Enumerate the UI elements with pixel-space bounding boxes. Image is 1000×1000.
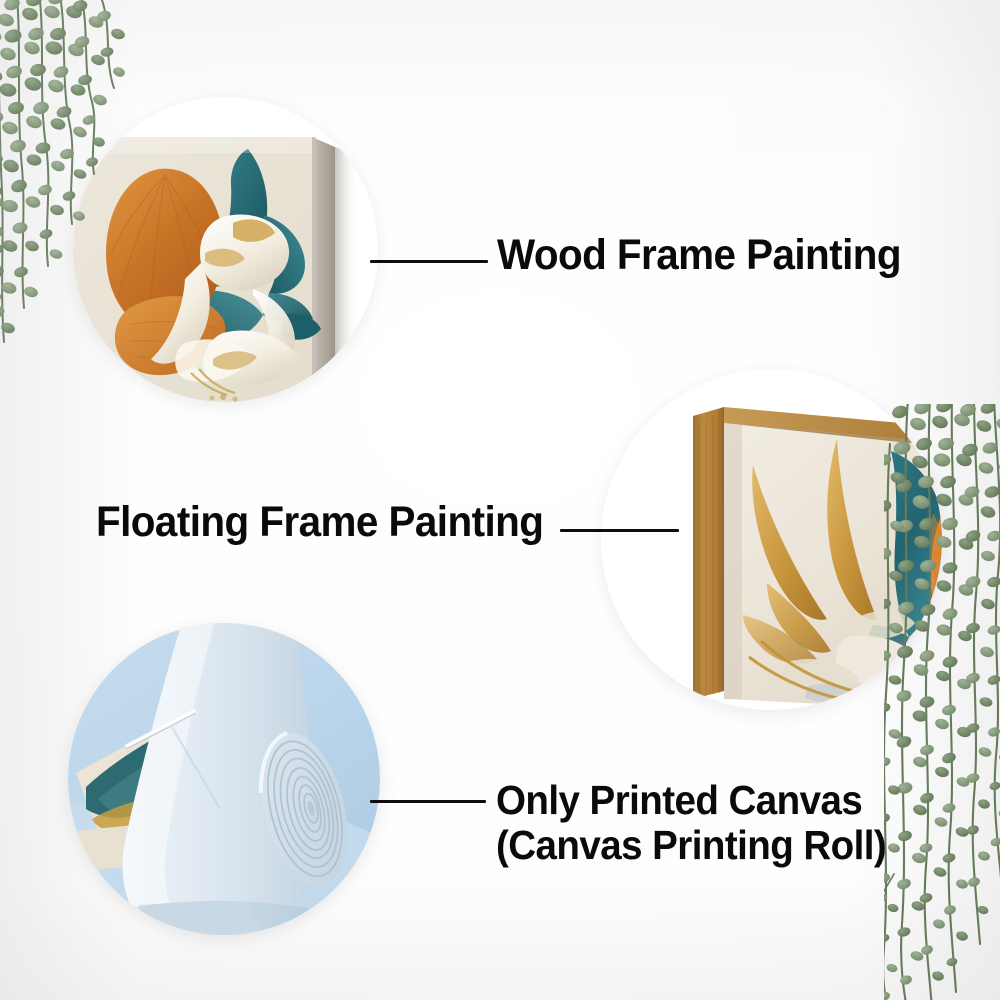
wood-frame-artwork: [73, 97, 378, 402]
background-light-patch: [732, 90, 904, 152]
product-circle-floating-frame[interactable]: [601, 369, 942, 710]
product-circle-wood-frame[interactable]: [73, 97, 378, 402]
infographic-canvas: Wood Frame Painting: [0, 0, 1000, 1000]
callout-line-floating-frame: [560, 529, 679, 532]
callout-label-canvas-roll-line2: (Canvas Printing Roll): [496, 824, 886, 867]
callout-label-wood-frame: Wood Frame Painting: [497, 233, 901, 279]
callout-label-floating-frame: Floating Frame Painting: [96, 500, 543, 546]
callout-label-canvas-roll-line1: Only Printed Canvas: [496, 779, 886, 822]
canvas-roll-artwork: [68, 623, 380, 935]
product-circle-canvas-roll[interactable]: [68, 623, 380, 935]
callout-line-wood-frame: [370, 260, 488, 263]
floating-frame-artwork: [601, 369, 942, 710]
callout-line-canvas-roll: [370, 800, 486, 803]
callout-label-canvas-roll: Only Printed Canvas (Canvas Printing Rol…: [496, 779, 886, 868]
